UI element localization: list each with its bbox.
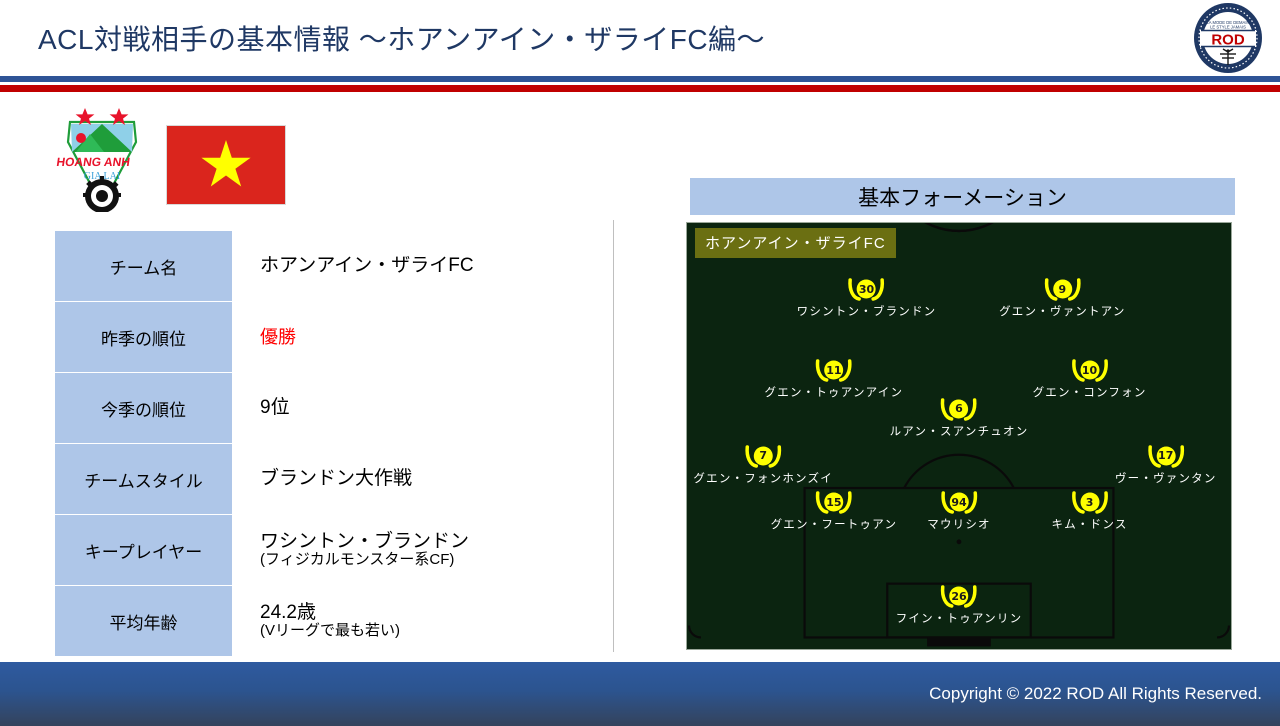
- table-row: 今季の順位 9位: [55, 373, 595, 443]
- player-marker: 6 ルアン・スアンチュオン: [890, 398, 1029, 439]
- player-number-badge-icon: 94: [939, 491, 979, 515]
- player-name: キム・ドンス: [1052, 516, 1128, 532]
- player-number-badge-icon: 26: [939, 585, 979, 609]
- info-label-current-season-rank: 今季の順位: [55, 373, 232, 443]
- info-label-key-player: キープレイヤー: [55, 515, 232, 585]
- player-marker: 10 グエン・コンフォン: [1033, 359, 1147, 400]
- player-number: 26: [939, 585, 979, 607]
- player-number: 10: [1070, 359, 1110, 381]
- info-value-main: ブランドン大作戦: [260, 468, 595, 489]
- page-title: ACL対戦相手の基本情報 ～ホアンアイン・ザライFC編～: [38, 18, 765, 58]
- info-label-team-name: チーム名: [55, 231, 232, 301]
- info-value-last-season-rank: 優勝: [232, 302, 595, 372]
- player-number-badge-icon: 7: [743, 445, 783, 469]
- player-name: グエン・フートゥアン: [771, 516, 898, 532]
- player-marker: 26 フイン・トゥアンリン: [896, 585, 1023, 626]
- table-row: チーム名 ホアンアイン・ザライFC: [55, 231, 595, 301]
- player-name: フイン・トゥアンリン: [896, 610, 1023, 626]
- player-number: 6: [939, 398, 979, 420]
- vietnam-flag: [166, 125, 286, 205]
- rod-logo: LA MODE DE DEMAIN LE STYLE JAMAIS ROD: [1190, 1, 1266, 75]
- info-value-current-season-rank: 9位: [232, 373, 595, 443]
- player-name: ワシントン・ブランドン: [797, 303, 937, 319]
- player-marker: 30 ワシントン・ブランドン: [797, 278, 937, 319]
- player-number-badge-icon: 17: [1146, 445, 1186, 469]
- info-value-team-style: ブランドン大作戦: [232, 444, 595, 514]
- info-value-average-age: 24.2歳 (Vリーグで最も若い): [232, 586, 595, 656]
- player-name: グエン・コンフォン: [1033, 384, 1147, 400]
- player-marker: 17 ヴー・ヴァンタン: [1115, 445, 1217, 486]
- info-value-team-name: ホアンアイン・ザライFC: [232, 231, 595, 301]
- player-number: 11: [814, 359, 854, 381]
- table-row: 平均年齢 24.2歳 (Vリーグで最も若い): [55, 586, 595, 656]
- player-marker: 15 グエン・フートゥアン: [771, 491, 898, 532]
- table-row: 昨季の順位 優勝: [55, 302, 595, 372]
- player-number-badge-icon: 3: [1070, 491, 1110, 515]
- formation-pitch: ホアンアイン・ザライFC 30 ワシントン・ブランドン 9: [686, 222, 1232, 650]
- copyright-text: Copyright © 2022 ROD All Rights Reserved…: [929, 684, 1262, 704]
- svg-text:LE STYLE JAMAIS: LE STYLE JAMAIS: [1210, 25, 1246, 30]
- info-value-main: 24.2歳: [260, 602, 595, 623]
- info-value-main: 優勝: [260, 327, 595, 347]
- player-name: グエン・ヴァントアン: [999, 303, 1126, 319]
- info-value-main: 9位: [260, 397, 595, 418]
- player-number: 17: [1146, 445, 1186, 467]
- team-info-table: チーム名 ホアンアイン・ザライFC 昨季の順位 優勝 今季の順位 9位 チームス…: [55, 231, 595, 657]
- header-rule-blue: [0, 76, 1280, 82]
- svg-text:HOANG ANH: HOANG ANH: [56, 155, 131, 169]
- info-label-last-season-rank: 昨季の順位: [55, 302, 232, 372]
- header-rule-red: [0, 85, 1280, 92]
- info-label-team-style: チームスタイル: [55, 444, 232, 514]
- hoang-anh-gia-lai-crest: HOANG ANH GIA LAI: [56, 100, 148, 212]
- player-number-badge-icon: 11: [814, 359, 854, 383]
- player-name: ルアン・スアンチュオン: [890, 423, 1029, 439]
- player-number: 3: [1070, 491, 1110, 513]
- player-name: ヴー・ヴァンタン: [1115, 470, 1217, 486]
- info-value-main: ホアンアイン・ザライFC: [260, 255, 595, 276]
- svg-text:ROD: ROD: [1211, 32, 1245, 49]
- team-tag: ホアンアイン・ザライFC: [695, 228, 896, 258]
- info-value-sub: (Vリーグで最も若い): [260, 623, 595, 640]
- player-number: 30: [847, 278, 887, 300]
- formation-header: 基本フォーメーション: [690, 178, 1235, 215]
- info-value-key-player: ワシントン・ブランドン (フィジカルモンスター系CF): [232, 515, 595, 585]
- player-marker: 9 グエン・ヴァントアン: [999, 278, 1126, 319]
- player-number: 9: [1042, 278, 1082, 300]
- player-name: グエン・トゥアンアイン: [765, 384, 904, 400]
- player-number-badge-icon: 30: [847, 278, 887, 302]
- player-name: グエン・フォンホンズイ: [693, 470, 832, 486]
- player-number-badge-icon: 15: [814, 491, 854, 515]
- player-number-badge-icon: 6: [939, 398, 979, 422]
- player-marker: 11 グエン・トゥアンアイン: [765, 359, 904, 400]
- player-marker: 94 マウリシオ: [927, 491, 991, 532]
- player-marker: 3 キム・ドンス: [1052, 491, 1128, 532]
- player-number: 7: [743, 445, 783, 467]
- slide-root: ACL対戦相手の基本情報 ～ホアンアイン・ザライFC編～ LA MODE DE …: [0, 0, 1280, 726]
- player-number-badge-icon: 9: [1042, 278, 1082, 302]
- table-row: キープレイヤー ワシントン・ブランドン (フィジカルモンスター系CF): [55, 515, 595, 585]
- player-number: 15: [814, 491, 854, 513]
- info-label-average-age: 平均年齢: [55, 586, 232, 656]
- player-number-badge-icon: 10: [1070, 359, 1110, 383]
- section-divider: [613, 220, 614, 652]
- player-number: 94: [939, 491, 979, 513]
- table-row: チームスタイル ブランドン大作戦: [55, 444, 595, 514]
- player-name: マウリシオ: [927, 516, 991, 532]
- info-value-sub: (フィジカルモンスター系CF): [260, 552, 595, 569]
- footer-bar: Copyright © 2022 ROD All Rights Reserved…: [0, 662, 1280, 726]
- info-value-main: ワシントン・ブランドン: [260, 531, 595, 552]
- player-marker: 7 グエン・フォンホンズイ: [693, 445, 832, 486]
